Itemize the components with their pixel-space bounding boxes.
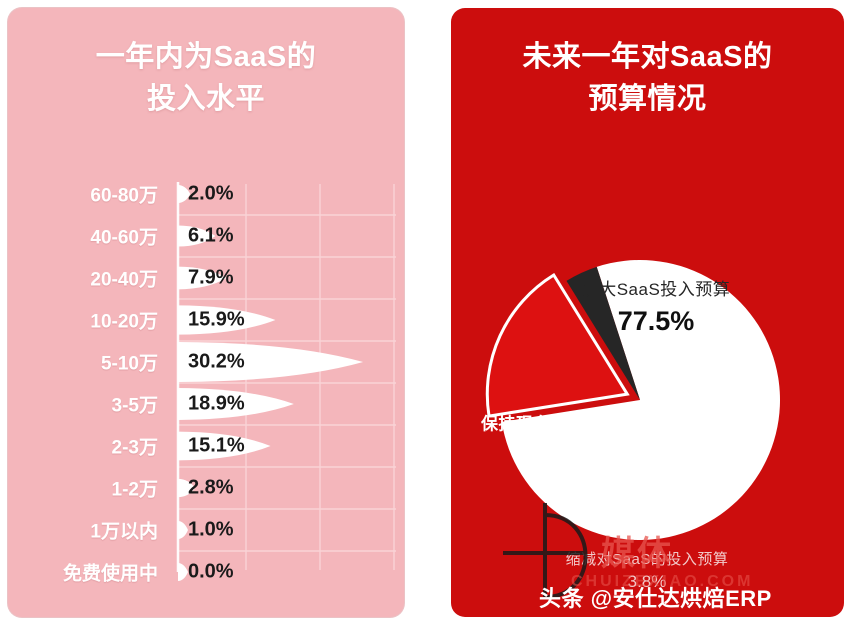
value-label-2: 7.9% xyxy=(188,267,234,290)
left-title-line-2: 投入水平 xyxy=(8,78,404,120)
value-label-1: 6.1% xyxy=(188,225,234,248)
pie-chart: 扩大SaaS投入预算 77.5% 保持现有预算不变 18.7% 缩减对SaaS的… xyxy=(451,8,844,617)
left-chart-title: 一年内为SaaS的 投入水平 xyxy=(8,36,404,120)
pie-label-keep-value: 18.7% xyxy=(481,441,621,463)
funnel-bar-chart: 60-80万40-60万20-40万10-20万5-10万3-5万2-3万1-2… xyxy=(8,176,404,596)
value-label-5: 18.9% xyxy=(188,393,245,416)
infographic-canvas: 一年内为SaaS的 投入水平 60-80万40-60万20-40万10-20万5… xyxy=(0,0,852,634)
value-label-4: 30.2% xyxy=(188,351,245,374)
value-label-6: 15.1% xyxy=(188,435,245,458)
value-label-8: 1.0% xyxy=(188,519,234,542)
value-label-7: 2.8% xyxy=(188,477,234,500)
pie-label-reduce-name: 缩减对SaaS的投入预算 xyxy=(566,548,729,569)
pie-label-expand-value: 77.5% xyxy=(582,306,731,337)
pie-label-keep-name: 保持现有预算不变 xyxy=(481,410,621,435)
value-label-9: 0.0% xyxy=(188,561,234,584)
author-byline: 头条 @安仕达烘焙ERP xyxy=(539,581,772,613)
pie-label-expand: 扩大SaaS投入预算 77.5% xyxy=(582,275,731,337)
left-chart-panel: 一年内为SaaS的 投入水平 60-80万40-60万20-40万10-20万5… xyxy=(8,8,404,617)
left-title-line-1: 一年内为SaaS的 xyxy=(96,41,316,73)
value-label-column: 2.0%6.1%7.9%15.9%30.2%18.9%15.1%2.8%1.0%… xyxy=(8,176,404,596)
value-label-0: 2.0% xyxy=(188,183,234,206)
value-label-3: 15.9% xyxy=(188,309,245,332)
right-chart-panel: 未来一年对SaaS的 预算情况 扩大SaaS投入预算 77.5% 保持现有预算不… xyxy=(451,8,844,617)
pie-label-keep: 保持现有预算不变 18.7% xyxy=(481,410,621,463)
pie-label-expand-name: 扩大SaaS投入预算 xyxy=(582,275,731,300)
